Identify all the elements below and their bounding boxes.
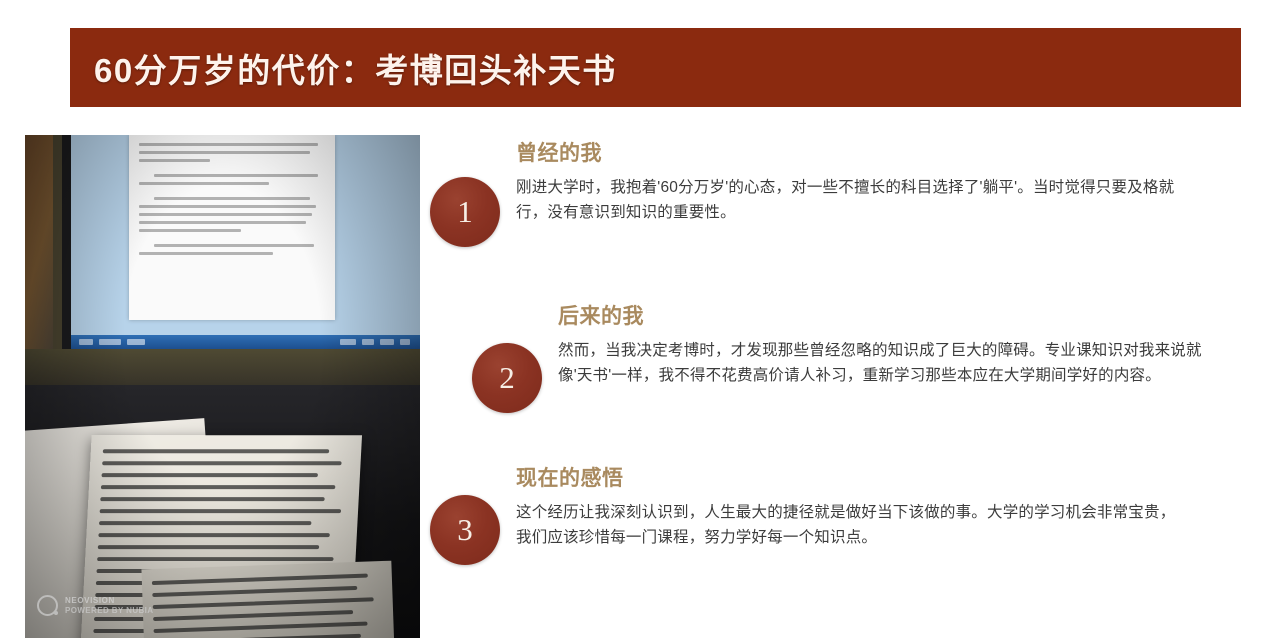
handwriting-line (97, 557, 334, 561)
doc-text-line (139, 151, 310, 154)
section-heading: 后来的我 (558, 300, 1203, 330)
nubia-circle-logo-icon (37, 595, 58, 616)
section-item: 2 后来的我 然而，当我决定考博时，才发现那些曾经忽略的知识成了巨大的障碍。专业… (472, 298, 1192, 413)
section-heading: 曾经的我 (516, 137, 1181, 167)
section-number-badge: 3 (430, 495, 500, 565)
section-item: 3 现在的感悟 这个经历让我深刻认识到，人生最大的捷径就是做好当下该做的事。大学… (430, 460, 1190, 565)
photo-watermark: NEOVISION POWERED BY NUBIA (37, 595, 153, 616)
watermark-brand: NEOVISION (65, 596, 153, 605)
doc-text-line (139, 221, 306, 224)
handwriting-line (152, 586, 357, 597)
doc-text-line (139, 229, 241, 232)
doc-text-line (139, 252, 273, 255)
handwriting-line (99, 521, 311, 525)
section-body: 现在的感悟 这个经历让我深刻认识到，人生最大的捷径就是做好当下该做的事。大学的学… (500, 460, 1186, 550)
doc-text-line (139, 159, 210, 162)
handwriting-line (100, 509, 342, 513)
taskbar-chip (400, 339, 410, 345)
section-paragraph: 然而，当我决定考博时，才发现那些曾经忽略的知识成了巨大的障碍。专业课知识对我来说… (558, 338, 1203, 388)
taskbar-chip (99, 339, 121, 345)
section-paragraph: 这个经历让我深刻认识到，人生最大的捷径就是做好当下该做的事。大学的学习机会非常宝… (516, 500, 1186, 550)
section-paragraph: 刚进大学时，我抱着'60分万岁'的心态，对一些不擅长的科目选择了'躺平'。当时觉… (516, 175, 1181, 225)
handwriting-line (153, 610, 353, 621)
section-number-badge: 2 (472, 343, 542, 413)
content-column: 1 曾经的我 刚进大学时，我抱着'60分万岁'的心态，对一些不擅长的科目选择了'… (430, 130, 1250, 630)
section-body: 曾经的我 刚进大学时，我抱着'60分万岁'的心态，对一些不擅长的科目选择了'躺平… (500, 135, 1181, 225)
photo-document-window (129, 135, 335, 320)
photo-taskbar (71, 335, 420, 349)
taskbar-chip (380, 339, 394, 345)
section-body: 后来的我 然而，当我决定考博时，才发现那些曾经忽略的知识成了巨大的障碍。专业课知… (542, 298, 1203, 388)
section-number-badge: 1 (430, 177, 500, 247)
section-item: 1 曾经的我 刚进大学时，我抱着'60分万岁'的心态，对一些不擅长的科目选择了'… (430, 135, 1190, 247)
handwriting-line (153, 597, 374, 609)
watermark-subtitle: POWERED BY NUBIA (65, 606, 153, 615)
taskbar-chip (79, 339, 93, 345)
taskbar-chip (340, 339, 356, 345)
handwriting-line (152, 574, 368, 586)
handwriting-line (154, 622, 368, 633)
handwriting-line (154, 634, 361, 638)
slide-title-banner: 60分万岁的代价：考博回头补天书 (70, 28, 1241, 107)
doc-text-line (139, 182, 269, 185)
photo-handwritten-note-lower (141, 561, 398, 638)
page-title: 60分万岁的代价：考博回头补天书 (70, 44, 617, 92)
handwriting-line (103, 449, 330, 453)
doc-text-line (154, 174, 318, 177)
handwriting-line (98, 533, 330, 537)
handwriting-line (98, 545, 320, 549)
illustration-photo: NEOVISION POWERED BY NUBIA (25, 135, 420, 638)
doc-text-line (139, 205, 316, 208)
taskbar-chip (127, 339, 145, 345)
handwriting-line (101, 473, 318, 477)
handwriting-line (102, 461, 341, 465)
handwriting-line (101, 485, 335, 489)
doc-text-line (139, 143, 318, 146)
doc-text-line (154, 244, 314, 247)
section-heading: 现在的感悟 (516, 462, 1186, 492)
doc-text-line (139, 213, 312, 216)
handwriting-line (100, 497, 324, 501)
taskbar-chip (362, 339, 374, 345)
doc-text-line (154, 197, 310, 200)
